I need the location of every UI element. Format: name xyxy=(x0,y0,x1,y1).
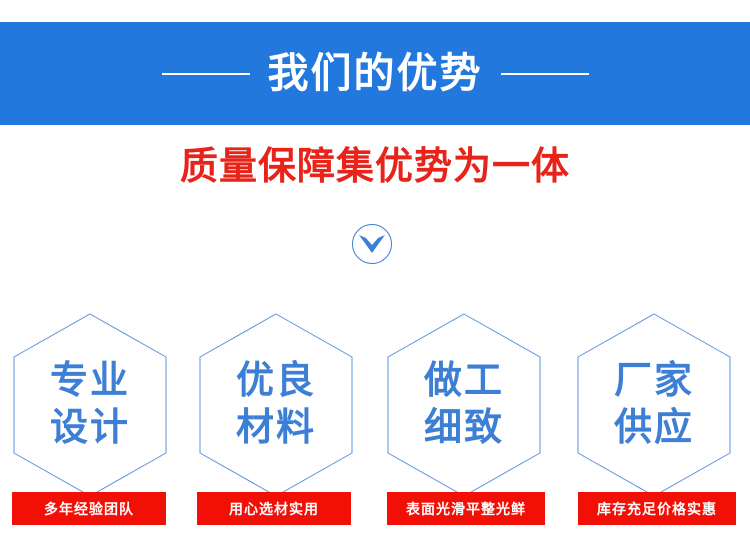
feature-card[interactable]: 厂家 供应 库存充足价格实惠 xyxy=(566,310,742,540)
headline-text: 质量保障集优势为一体 xyxy=(0,146,750,190)
feature-hexagon-row: 专业 设计 多年经验团队 优良 材料 用心选材实用 做工 细致 表面光滑平整光鲜… xyxy=(0,310,750,540)
feature-title: 厂家 供应 xyxy=(566,358,742,452)
header-banner: 我们的优势 xyxy=(0,22,750,125)
header-rule-right xyxy=(501,73,589,75)
feature-title: 优良 材料 xyxy=(188,358,364,452)
feature-banner: 用心选材实用 xyxy=(197,492,351,525)
feature-banner: 库存充足价格实惠 xyxy=(578,492,736,525)
header-rule-left xyxy=(162,73,250,75)
feature-card[interactable]: 专业 设计 多年经验团队 xyxy=(2,310,178,540)
promo-page: 我们的优势 质量保障集优势为一体 专业 设计 多年经验团队 优良 材料 用心选材… xyxy=(0,0,750,540)
header-inner: 我们的优势 xyxy=(162,53,589,94)
feature-banner: 多年经验团队 xyxy=(12,492,166,525)
feature-card[interactable]: 优良 材料 用心选材实用 xyxy=(188,310,364,540)
feature-title: 专业 设计 xyxy=(2,358,178,452)
chevron-down-icon xyxy=(352,224,392,264)
feature-title: 做工 细致 xyxy=(376,358,552,452)
feature-card[interactable]: 做工 细致 表面光滑平整光鲜 xyxy=(376,310,552,540)
feature-banner: 表面光滑平整光鲜 xyxy=(387,492,545,525)
page-title: 我们的优势 xyxy=(268,53,483,94)
